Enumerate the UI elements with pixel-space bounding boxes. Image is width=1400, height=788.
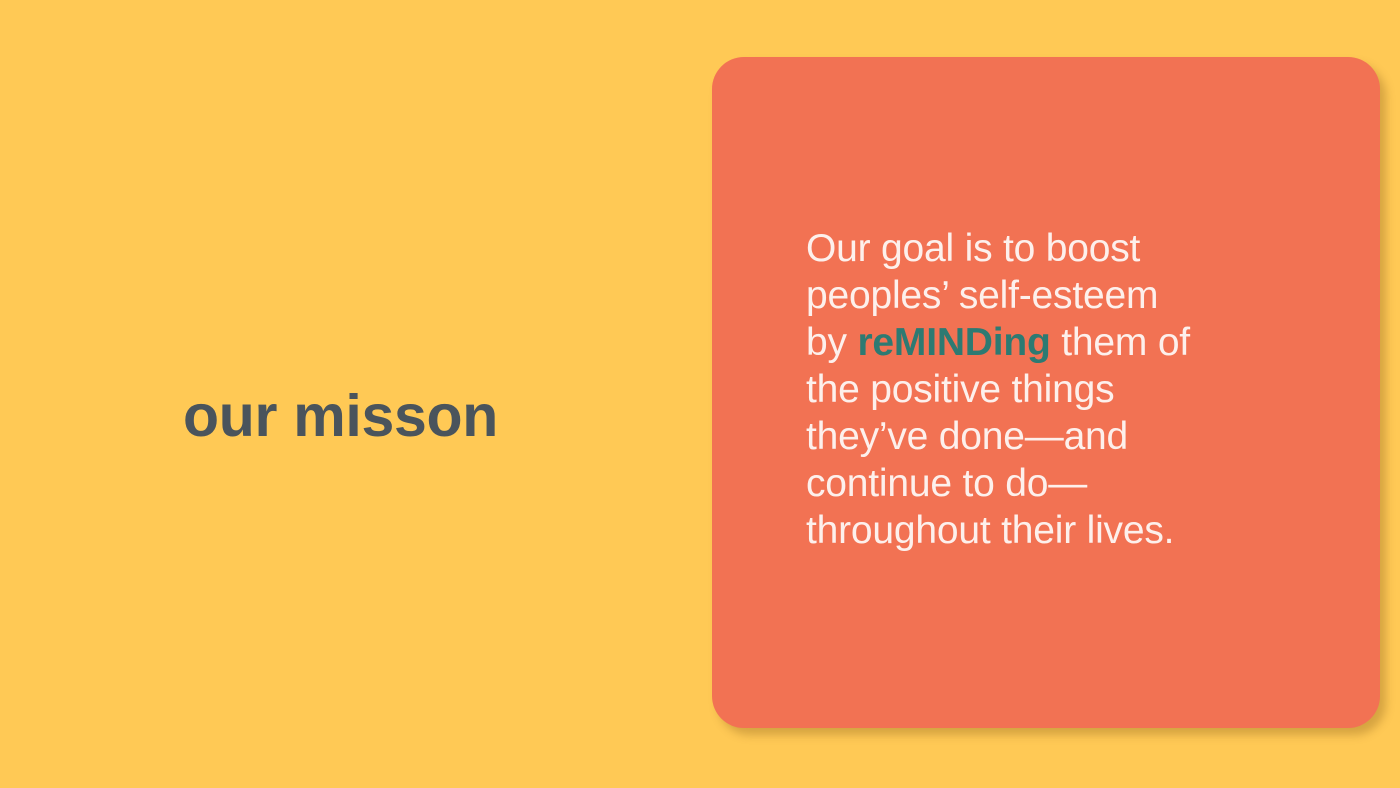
mission-line-3: by reMINDing them of bbox=[806, 319, 1276, 366]
slide-canvas: our misson Our goal is to boost peoples’… bbox=[0, 0, 1400, 788]
mission-line-3-prefix: by bbox=[806, 321, 857, 364]
mission-line-7: throughout their lives. bbox=[806, 507, 1276, 554]
mission-line-1: Our goal is to boost bbox=[806, 225, 1276, 272]
mission-line-3-suffix: them of bbox=[1051, 321, 1190, 364]
page-title: our misson bbox=[183, 380, 663, 454]
mission-line-6: continue to do— bbox=[806, 460, 1276, 507]
mission-statement-card: Our goal is to boost peoples’ self-estee… bbox=[712, 57, 1380, 728]
mission-line-2: peoples’ self-esteem bbox=[806, 272, 1276, 319]
mission-line-5: they’ve done—and bbox=[806, 413, 1276, 460]
mission-statement-text: Our goal is to boost peoples’ self-estee… bbox=[806, 225, 1276, 554]
mission-highlight-word: reMINDing bbox=[857, 321, 1050, 364]
mission-line-4: the positive things bbox=[806, 366, 1276, 413]
